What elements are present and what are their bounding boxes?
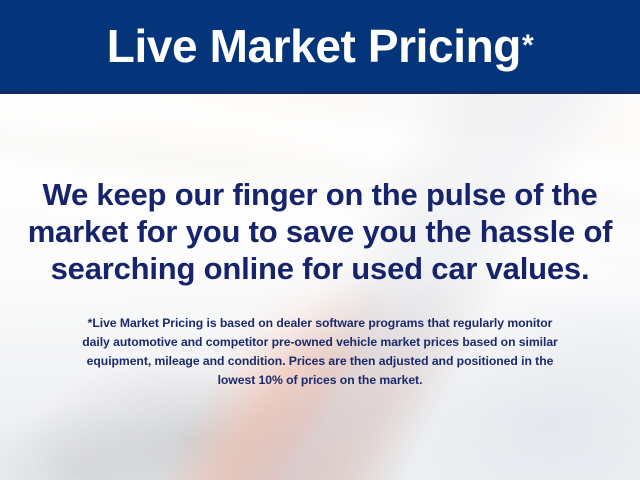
banner-title-text: Live Market Pricing: [107, 23, 521, 69]
headline-line-2: market for you to save you the hassle of: [0, 213, 640, 250]
disclaimer-line-4: lowest 10% of prices on the market.: [0, 371, 640, 390]
headline-line-1: We keep our finger on the pulse of the: [0, 176, 640, 213]
disclaimer-line-1: *Live Market Pricing is based on dealer …: [0, 314, 640, 333]
live-market-pricing-banner: Live Market Pricing* We keep our finger …: [0, 0, 640, 480]
disclaimer-line-3: equipment, mileage and condition. Prices…: [0, 352, 640, 371]
title-bar-rule: [0, 91, 640, 94]
disclaimer: *Live Market Pricing is based on dealer …: [0, 314, 640, 390]
headline-line-3: searching online for used car values.: [0, 250, 640, 287]
banner-title: Live Market Pricing*: [0, 0, 640, 91]
headline: We keep our finger on the pulse of the m…: [0, 176, 640, 287]
disclaimer-line-2: daily automotive and competitor pre-owne…: [0, 333, 640, 352]
banner-title-asterisk: *: [522, 31, 533, 61]
